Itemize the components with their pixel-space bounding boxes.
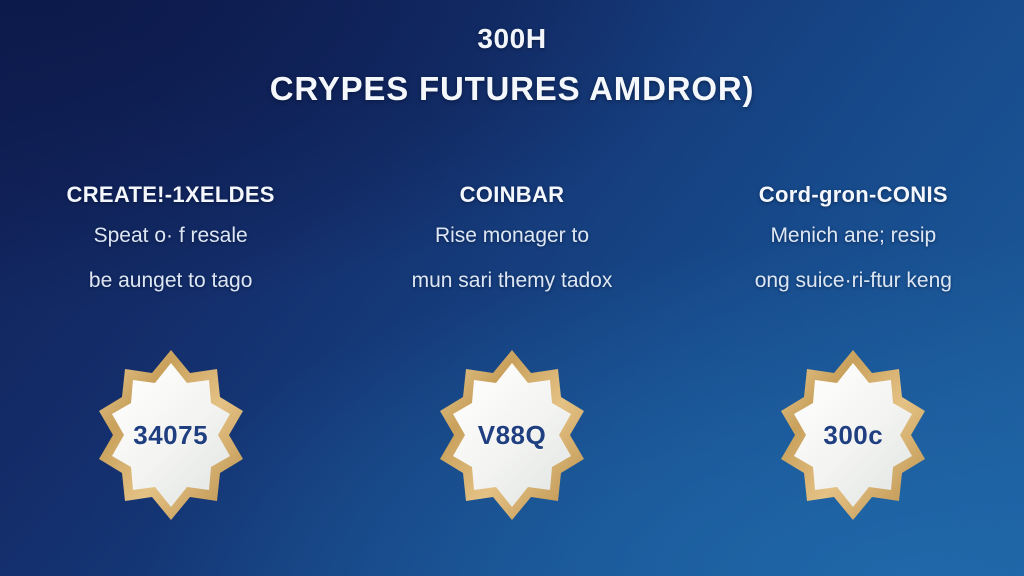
badges-row: 34075: [0, 347, 1024, 523]
badge-3-label: 300c: [823, 420, 883, 451]
column-2-heading: COINBAR: [460, 182, 565, 207]
badge-cell-2: V88Q: [341, 347, 682, 523]
page-title: 300H: [0, 24, 1024, 55]
badge-2: V88Q: [437, 347, 587, 523]
page-subtitle: CRYPES FUTURES AMDROR): [0, 71, 1024, 108]
infographic-canvas: 300H CRYPES FUTURES AMDROR) CREATE!-1XEL…: [0, 0, 1024, 576]
header-block: 300H CRYPES FUTURES AMDROR): [0, 24, 1024, 108]
column-2: COINBAR Rise monager to mun sari themy t…: [341, 182, 682, 291]
column-1-body-line-2: be aunget to tago: [89, 270, 252, 291]
column-2-body-line-1: Rise monager to: [435, 224, 589, 247]
badge-1-label: 34075: [133, 420, 208, 451]
badge-1: 34075: [96, 347, 246, 523]
badge-3: 300c: [778, 347, 928, 523]
column-1-heading: CREATE!-1XELDES: [67, 182, 275, 207]
column-3-body-line-1: Menich ane; resip: [770, 224, 936, 247]
badge-2-label: V88Q: [478, 420, 547, 451]
column-1-body-line-1: Speat o· f resale: [94, 224, 248, 247]
column-3-body: Menich ane; resip ong suice·ri-ftur keng: [755, 225, 952, 291]
column-2-body-line-2: mun sari themy tadox: [412, 270, 613, 291]
column-3-heading: Cord-gron-CONIS: [759, 182, 948, 207]
column-3: Cord-gron-CONIS Menich ane; resip ong su…: [683, 182, 1024, 291]
column-3-body-line-2: ong suice·ri-ftur keng: [755, 270, 952, 291]
badge-cell-1: 34075: [0, 347, 341, 523]
badge-cell-3: 300c: [683, 347, 1024, 523]
column-1: CREATE!-1XELDES Speat o· f resale be aun…: [0, 182, 341, 291]
column-2-body: Rise monager to mun sari themy tadox: [412, 225, 613, 291]
columns-row: CREATE!-1XELDES Speat o· f resale be aun…: [0, 182, 1024, 291]
column-1-body: Speat o· f resale be aunget to tago: [89, 225, 252, 291]
